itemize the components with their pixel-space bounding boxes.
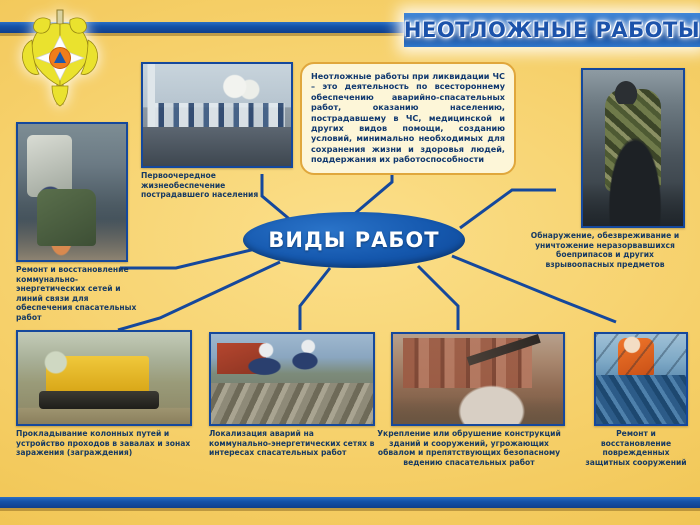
card-shelter-restoration: Ремонт и восстановление поврежденных защ… <box>594 332 688 467</box>
poster-root: НЕОТЛОЖНЫЕ РАБОТЫ Неотложные работы при … <box>0 0 700 525</box>
caption-life-support: Первоочередное жизнеобеспечение пострада… <box>141 171 293 200</box>
caption-accident-localization: Локализация аварий на коммунально-энерге… <box>209 429 375 458</box>
card-structure-reinforcement: Укрепление или обрушение конструкций зда… <box>391 332 565 467</box>
caption-ordnance-disposal: Обнаружение, обезвреживание и уничтожени… <box>525 231 685 269</box>
photo-rescuers-on-rubble <box>209 332 375 426</box>
card-ordnance-disposal: Обнаружение, обезвреживание и уничтожени… <box>581 68 685 269</box>
card-utility-repair: Ремонт и восстановление коммунально-энер… <box>16 122 128 323</box>
card-accident-localization: Локализация аварий на коммунально-энерге… <box>209 332 375 458</box>
definition-callout: Неотложные работы при ликвидации ЧС – эт… <box>300 62 516 175</box>
photo-bulldozer-clearing-route <box>16 330 192 426</box>
photo-sapper-defusing-ordnance <box>581 68 685 228</box>
photo-demolition-of-damaged-building <box>391 332 565 426</box>
card-life-support: Первоочередное жизнеобеспечение пострада… <box>141 62 293 200</box>
photo-utility-network-repair <box>16 122 128 262</box>
caption-column-routes: Прокладывание колонных путей и устройств… <box>16 429 192 458</box>
center-node-label: ВИДЫ РАБОТ <box>268 228 439 252</box>
definition-text: Неотложные работы при ликвидации ЧС – эт… <box>311 71 505 165</box>
photo-worker-repairing-shelter <box>594 332 688 426</box>
caption-shelter-restoration: Ремонт и восстановление поврежденных защ… <box>584 429 688 467</box>
center-node-types-of-work: ВИДЫ РАБОТ <box>243 212 465 268</box>
caption-utility-repair: Ремонт и восстановление коммунально-энер… <box>16 265 144 323</box>
photo-aid-distribution-to-population <box>141 62 293 168</box>
caption-structure-reinforcement: Укрепление или обрушение конструкций зда… <box>373 429 565 467</box>
card-column-routes: Прокладывание колонных путей и устройств… <box>16 330 192 458</box>
